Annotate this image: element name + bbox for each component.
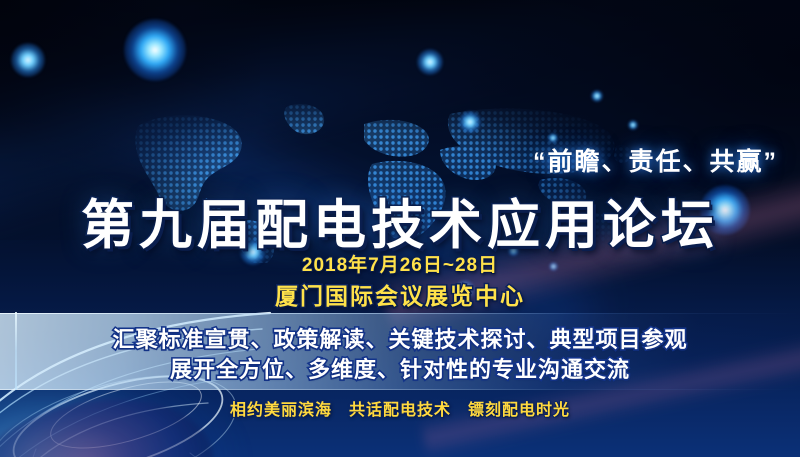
description-line-2: 展开全方位、多维度、针对性的专业沟通交流 — [0, 352, 800, 384]
description-line-1: 汇聚标准宣贯、政策解读、关键技术探讨、典型项目参观 — [0, 322, 800, 354]
page-title: 第九届配电技术应用论坛 — [0, 183, 800, 259]
tagline: “前瞻、责任、共赢” — [0, 142, 800, 178]
conference-poster: “前瞻、责任、共赢” 第九届配电技术应用论坛 2018年7月26日~28日 厦门… — [0, 0, 800, 457]
event-date: 2018年7月26日~28日 — [0, 250, 800, 277]
band-top-edge — [0, 313, 800, 314]
event-venue: 厦门国际会议展览中心 — [0, 277, 800, 311]
band-bottom-edge — [0, 389, 800, 390]
footer-slogan: 相约美丽滨海 共话配电技术 镖刻配电时光 — [0, 396, 800, 420]
